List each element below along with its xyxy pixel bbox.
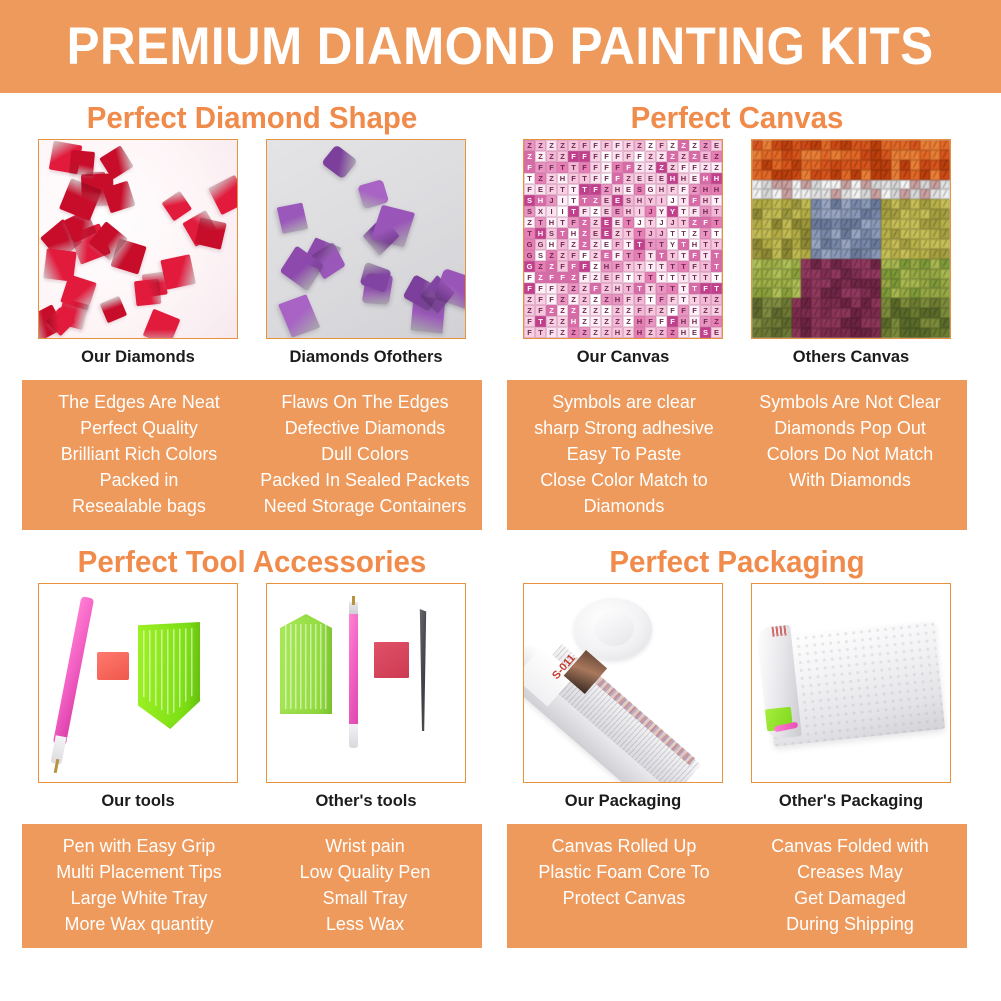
canvas-symbol-cell: ╱ <box>762 199 772 209</box>
pink-pen-icon <box>53 596 94 746</box>
canvas-symbol-cell: ╱ <box>752 160 762 170</box>
canvas-symbol-cell: ╱ <box>930 298 940 308</box>
canvas-symbol-cell: ╱ <box>910 318 920 328</box>
canvas-symbol-cell: F <box>535 294 546 305</box>
canvas-symbol-cell: ╱ <box>811 318 821 328</box>
canvas-symbol-cell: F <box>524 316 535 327</box>
canvas-symbol-cell: ╱ <box>891 209 901 219</box>
canvas-symbol-cell: ╱ <box>752 279 762 289</box>
canvas-symbol-cell: F <box>590 173 601 184</box>
canvas-symbol-cell: ╱ <box>801 189 811 199</box>
canvas-symbol-cell: ╱ <box>841 180 851 190</box>
canvas-symbol-cell: Z <box>579 217 590 228</box>
bubble-mailer-image <box>751 583 951 783</box>
canvas-symbol-cell: ╱ <box>801 328 811 338</box>
canvas-symbol-cell: ╱ <box>861 160 871 170</box>
canvas-symbol-cell: T <box>678 250 689 261</box>
canvas-symbol-cell: ╱ <box>811 170 821 180</box>
canvas-symbol-cell: ╱ <box>940 279 950 289</box>
canvas-symbol-cell: ╱ <box>940 189 950 199</box>
canvas-symbol-cell: F <box>579 151 590 162</box>
canvas-symbol-cell: S <box>546 228 557 239</box>
canvas-symbol-cell: ╱ <box>772 259 782 269</box>
canvas-symbol-cell: T <box>568 184 579 195</box>
canvas-symbol-cell: ╱ <box>930 328 940 338</box>
canvas-symbol-cell: T <box>678 239 689 250</box>
canvas-symbol-cell: ╱ <box>811 308 821 318</box>
image-pair: Our Diamonds Diamonds Ofothers <box>12 139 492 367</box>
canvas-symbol-cell: ╱ <box>762 150 772 160</box>
canvas-symbol-cell: F <box>546 294 557 305</box>
canvas-symbol-cell: ╱ <box>831 170 841 180</box>
canvas-symbol-cell: H <box>634 316 645 327</box>
canvas-symbol-cell: ╱ <box>851 219 861 229</box>
feature-line: Close Color Match to <box>514 467 733 493</box>
canvas-symbol-cell: ╱ <box>792 140 802 150</box>
canvas-symbol-cell: ╱ <box>801 170 811 180</box>
canvas-symbol-cell: ╱ <box>801 199 811 209</box>
canvas-symbol-cell: ╱ <box>910 209 920 219</box>
canvas-symbol-cell: H <box>612 283 623 294</box>
canvas-symbol-cell: ╱ <box>801 229 811 239</box>
canvas-symbol-cell: ╱ <box>821 229 831 239</box>
section-title: Perfect Tool Accessories <box>24 541 480 583</box>
canvas-symbol-cell: ╱ <box>930 189 940 199</box>
canvas-symbol-cell: F <box>634 305 645 316</box>
canvas-symbol-cell: ╱ <box>841 199 851 209</box>
canvas-symbol-cell: ╱ <box>811 180 821 190</box>
canvas-symbol-cell: T <box>557 217 568 228</box>
canvas-symbol-cell: Z <box>568 272 579 283</box>
canvas-symbol-cell: ╱ <box>940 209 950 219</box>
canvas-symbol-cell: ╱ <box>801 308 811 318</box>
canvas-symbol-cell: ╱ <box>861 239 871 249</box>
canvas-symbol-cell: ╱ <box>851 259 861 269</box>
canvas-symbol-cell: F <box>546 272 557 283</box>
canvas-symbol-cell: T <box>711 250 722 261</box>
feature-box: The Edges Are NeatPerfect QualityBrillia… <box>22 380 482 530</box>
canvas-symbol-cell: ╱ <box>811 140 821 150</box>
canvas-symbol-cell: ╱ <box>772 298 782 308</box>
canvas-symbol-cell: Z <box>557 250 568 261</box>
canvas-symbol-cell: H <box>612 327 623 338</box>
canvas-symbol-cell: ╱ <box>861 219 871 229</box>
canvas-symbol-cell: I <box>634 206 645 217</box>
canvas-symbol-cell: ╱ <box>891 328 901 338</box>
canvas-symbol-cell: T <box>667 250 678 261</box>
canvas-symbol-cell: ╱ <box>821 150 831 160</box>
canvas-symbol-cell: F <box>623 151 634 162</box>
canvas-symbol-cell: ╱ <box>851 229 861 239</box>
feature-line: Wrist pain <box>255 833 474 859</box>
canvas-symbol-cell: ╱ <box>930 279 940 289</box>
canvas-symbol-cell: J <box>645 228 656 239</box>
canvas-symbol-cell: ╱ <box>930 180 940 190</box>
canvas-symbol-cell: T <box>623 283 634 294</box>
canvas-symbol-cell: ╱ <box>920 298 930 308</box>
canvas-symbol-cell: ╱ <box>752 239 762 249</box>
canvas-symbol-cell: T <box>623 239 634 250</box>
canvas-symbol-cell: ╱ <box>841 140 851 150</box>
canvas-symbol-cell: ╱ <box>762 229 772 239</box>
image-caption: Our Packaging <box>523 792 723 811</box>
canvas-symbol-cell: J <box>656 228 667 239</box>
canvas-symbol-cell: F <box>689 162 700 173</box>
canvas-symbol-cell: T <box>678 217 689 228</box>
canvas-symbol-cell: ╱ <box>900 209 910 219</box>
canvas-symbol-cell: ╱ <box>940 259 950 269</box>
canvas-symbol-cell: G <box>524 250 535 261</box>
canvas-symbol-cell: T <box>557 228 568 239</box>
canvas-symbol-cell: ╱ <box>920 140 930 150</box>
canvas-symbol-cell: T <box>634 239 645 250</box>
canvas-symbol-cell: ╱ <box>900 150 910 160</box>
tube-packaging-image: S-011 <box>523 583 723 783</box>
canvas-symbol-cell: J <box>667 195 678 206</box>
canvas-symbol-cell: ╱ <box>831 189 841 199</box>
infographic-page: PREMIUM DIAMOND PAINTING KITS Perfect Di… <box>0 0 1001 1001</box>
canvas-symbol-cell: T <box>656 250 667 261</box>
canvas-symbol-cell: ╱ <box>930 219 940 229</box>
canvas-symbol-cell: ╱ <box>762 209 772 219</box>
feature-col-others: Canvas Folded withCreases MayGet Damaged… <box>737 833 963 937</box>
canvas-symbol-cell: Z <box>590 294 601 305</box>
canvas-symbol-cell: H <box>678 316 689 327</box>
canvas-symbol-cell: ╱ <box>851 140 861 150</box>
canvas-symbol-cell: ╱ <box>900 239 910 249</box>
canvas-symbol-cell: ╱ <box>782 308 792 318</box>
canvas-symbol-cell: ╱ <box>801 140 811 150</box>
canvas-symbol-cell: E <box>634 173 645 184</box>
canvas-symbol-cell: ╱ <box>910 229 920 239</box>
canvas-symbol-cell: Z <box>546 140 557 151</box>
canvas-symbol-cell: F <box>689 250 700 261</box>
canvas-symbol-cell: ╱ <box>841 318 851 328</box>
canvas-symbol-cell: Z <box>557 294 568 305</box>
canvas-symbol-cell: Z <box>711 162 722 173</box>
canvas-symbol-cell: T <box>689 294 700 305</box>
canvas-symbol-cell: F <box>524 162 535 173</box>
canvas-symbol-cell: ╱ <box>772 328 782 338</box>
canvas-symbol-cell: ╱ <box>752 298 762 308</box>
canvas-symbol-cell: ╱ <box>801 269 811 279</box>
canvas-symbol-cell: Z <box>535 140 546 151</box>
canvas-symbol-cell: ╱ <box>782 269 792 279</box>
canvas-symbol-cell: T <box>711 228 722 239</box>
canvas-symbol-cell: ╱ <box>821 189 831 199</box>
canvas-symbol-cell: ╱ <box>821 219 831 229</box>
canvas-symbol-cell: T <box>634 272 645 283</box>
canvas-symbol-cell: Z <box>645 162 656 173</box>
canvas-symbol-cell: ╱ <box>891 150 901 160</box>
canvas-symbol-cell: ╱ <box>891 140 901 150</box>
canvas-symbol-cell: ╱ <box>752 288 762 298</box>
canvas-symbol-cell: Y <box>645 195 656 206</box>
canvas-symbol-cell: T <box>700 228 711 239</box>
canvas-symbol-cell: ╱ <box>772 219 782 229</box>
canvas-symbol-cell: ╱ <box>851 180 861 190</box>
canvas-symbol-cell: ╱ <box>762 259 772 269</box>
feature-col-others: Symbols Are Not ClearDiamonds Pop OutCol… <box>737 389 963 519</box>
canvas-symbol-cell: ╱ <box>930 239 940 249</box>
canvas-symbol-cell: T <box>656 283 667 294</box>
canvas-symbol-cell: ╱ <box>920 318 930 328</box>
canvas-symbol-cell: F <box>656 316 667 327</box>
canvas-symbol-cell: T <box>678 272 689 283</box>
canvas-symbol-cell: ╱ <box>801 259 811 269</box>
canvas-symbol-cell: ╱ <box>920 219 930 229</box>
canvas-symbol-cell: Z <box>689 217 700 228</box>
canvas-symbol-cell: ╱ <box>881 199 891 209</box>
canvas-symbol-cell: ╱ <box>851 269 861 279</box>
canvas-symbol-cell: G <box>524 261 535 272</box>
canvas-symbol-cell: E <box>645 173 656 184</box>
page-title: PREMIUM DIAMOND PAINTING KITS <box>67 16 934 77</box>
canvas-symbol-cell: H <box>601 261 612 272</box>
feature-line: Canvas Rolled Up <box>514 833 733 859</box>
canvas-symbol-cell: Z <box>546 316 557 327</box>
canvas-symbol-cell: I <box>546 206 557 217</box>
canvas-symbol-cell: Z <box>689 184 700 195</box>
canvas-symbol-cell: ╱ <box>782 239 792 249</box>
canvas-symbol-cell: ╱ <box>881 189 891 199</box>
canvas-symbol-cell: ╱ <box>792 219 802 229</box>
canvas-symbol-cell: F <box>612 261 623 272</box>
canvas-symbol-cell: ╱ <box>762 189 772 199</box>
canvas-symbol-cell: E <box>535 184 546 195</box>
canvas-symbol-cell: ╱ <box>891 279 901 289</box>
image-caption: Diamonds Ofothers <box>266 348 466 367</box>
canvas-symbol-cell: F <box>612 250 623 261</box>
canvas-symbol-cell: J <box>634 217 645 228</box>
canvas-symbol-cell: E <box>689 173 700 184</box>
canvas-symbol-cell: ╱ <box>940 199 950 209</box>
canvas-symbol-cell: F <box>546 283 557 294</box>
canvas-symbol-cell: Z <box>579 239 590 250</box>
canvas-symbol-cell: H <box>634 327 645 338</box>
canvas-symbol-cell: ╱ <box>782 249 792 259</box>
canvas-symbol-cell: E <box>700 151 711 162</box>
canvas-symbol-cell: T <box>700 250 711 261</box>
canvas-symbol-cell: ╱ <box>881 259 891 269</box>
canvas-symbol-cell: ╱ <box>910 199 920 209</box>
canvas-symbol-cell: ╱ <box>910 180 920 190</box>
canvas-symbol-cell: ╱ <box>910 160 920 170</box>
wax-square-icon <box>374 642 409 678</box>
other-tools-image <box>266 583 466 783</box>
canvas-symbol-cell: ╱ <box>940 150 950 160</box>
canvas-symbol-cell: E <box>601 250 612 261</box>
canvas-symbol-cell: F <box>568 173 579 184</box>
canvas-symbol-cell: ╱ <box>910 328 920 338</box>
canvas-symbol-cell: ╱ <box>841 328 851 338</box>
canvas-symbol-cell: ╱ <box>752 150 762 160</box>
canvas-symbol-cell: ╱ <box>881 140 891 150</box>
canvas-symbol-cell: Z <box>612 228 623 239</box>
canvas-symbol-cell: Z <box>656 162 667 173</box>
section-title: Perfect Canvas <box>509 97 965 139</box>
canvas-symbol-cell: F <box>590 151 601 162</box>
canvas-symbol-cell: ╱ <box>851 328 861 338</box>
canvas-symbol-cell: ╱ <box>891 180 901 190</box>
canvas-symbol-cell: ╱ <box>861 288 871 298</box>
canvas-symbol-cell: ╱ <box>821 249 831 259</box>
canvas-symbol-cell: ╱ <box>910 219 920 229</box>
canvas-symbol-cell: Z <box>579 316 590 327</box>
feature-line: During Shipping <box>740 911 959 937</box>
canvas-symbol-cell: E <box>601 228 612 239</box>
canvas-symbol-cell: ╱ <box>910 189 920 199</box>
canvas-symbol-cell: ╱ <box>772 318 782 328</box>
feature-line: Perfect Quality <box>29 415 248 441</box>
canvas-symbol-cell: ╱ <box>772 209 782 219</box>
canvas-symbol-cell: ╱ <box>940 318 950 328</box>
section-canvas: Perfect Canvas ZZZZZFFFFFZZFZZZZEZZZZFFF… <box>497 97 977 530</box>
canvas-symbol-cell: ╱ <box>910 279 920 289</box>
canvas-symbol-cell: T <box>700 272 711 283</box>
canvas-symbol-cell: ╱ <box>821 279 831 289</box>
canvas-symbol-cell: H <box>711 173 722 184</box>
feature-line: sharp Strong adhesive <box>514 415 733 441</box>
canvas-symbol-cell: ╱ <box>920 150 930 160</box>
canvas-symbol-cell: ╱ <box>782 259 792 269</box>
feature-col-ours: Pen with Easy GripMulti Placement TipsLa… <box>26 833 252 937</box>
canvas-symbol-cell: S <box>524 206 535 217</box>
canvas-symbol-cell: ╱ <box>871 308 881 318</box>
canvas-symbol-cell: ╱ <box>821 170 831 180</box>
feature-line: Large White Tray <box>29 885 248 911</box>
canvas-symbol-cell: ╱ <box>900 140 910 150</box>
canvas-symbol-cell: ╱ <box>782 219 792 229</box>
canvas-symbol-cell: ╱ <box>762 219 772 229</box>
canvas-symbol-cell: ╱ <box>811 199 821 209</box>
canvas-symbol-cell: F <box>623 294 634 305</box>
canvas-symbol-cell: ╱ <box>891 219 901 229</box>
canvas-symbol-cell: F <box>535 283 546 294</box>
canvas-symbol-cell: Z <box>711 305 722 316</box>
canvas-symbol-cell: ╱ <box>871 318 881 328</box>
canvas-symbol-cell: E <box>601 195 612 206</box>
canvas-symbol-cell: Z <box>535 151 546 162</box>
canvas-symbol-cell: ╱ <box>871 150 881 160</box>
canvas-symbol-cell: ╱ <box>841 160 851 170</box>
canvas-symbol-cell: F <box>601 151 612 162</box>
canvas-symbol-cell: ╱ <box>841 209 851 219</box>
canvas-symbol-cell: ╱ <box>871 229 881 239</box>
canvas-symbol-cell: ╱ <box>881 279 891 289</box>
canvas-symbol-cell: ╱ <box>900 199 910 209</box>
canvas-symbol-cell: F <box>678 305 689 316</box>
canvas-symbol-cell: H <box>568 228 579 239</box>
canvas-symbol-cell: F <box>689 305 700 316</box>
canvas-symbol-cell: F <box>579 261 590 272</box>
canvas-symbol-cell: ╱ <box>801 288 811 298</box>
canvas-symbol-cell: ╱ <box>930 199 940 209</box>
canvas-symbol-cell: Z <box>656 305 667 316</box>
canvas-symbol-cell: Y <box>667 206 678 217</box>
canvas-symbol-cell: ╱ <box>841 249 851 259</box>
canvas-symbol-cell: F <box>656 140 667 151</box>
canvas-symbol-cell: ╱ <box>851 199 861 209</box>
canvas-symbol-cell: ╱ <box>762 249 772 259</box>
canvas-symbol-cell: F <box>590 283 601 294</box>
pink-canvas-image: ZZZZZFFFFFZZFZZZZEZZZZFFFFFFFZZZZZEZFFFT… <box>523 139 723 339</box>
canvas-symbol-cell: ╱ <box>930 249 940 259</box>
canvas-symbol-cell: E <box>623 184 634 195</box>
canvas-symbol-cell: ╱ <box>782 279 792 289</box>
canvas-symbol-cell: ╱ <box>831 209 841 219</box>
canvas-symbol-cell: Z <box>524 305 535 316</box>
canvas-symbol-cell: ╱ <box>762 288 772 298</box>
canvas-symbol-cell: ╱ <box>881 249 891 259</box>
canvas-symbol-cell: T <box>700 239 711 250</box>
canvas-symbol-cell: F <box>645 305 656 316</box>
image-cell-ours: S-011 Our Packaging <box>523 583 723 811</box>
canvas-symbol-cell: ╱ <box>752 328 762 338</box>
canvas-symbol-cell: F <box>612 151 623 162</box>
canvas-symbol-cell: ╱ <box>891 170 901 180</box>
mailer-tab-icon <box>772 625 789 637</box>
section-packaging: Perfect Packaging S-011 <box>497 541 977 948</box>
canvas-symbol-cell: F <box>557 239 568 250</box>
canvas-symbol-cell: ╱ <box>891 249 901 259</box>
canvas-symbol-cell: ╱ <box>772 140 782 150</box>
canvas-symbol-cell: J <box>546 195 557 206</box>
canvas-symbol-cell: ╱ <box>762 269 772 279</box>
canvas-symbol-cell: ╱ <box>900 259 910 269</box>
canvas-symbol-cell: ╱ <box>891 199 901 209</box>
canvas-symbol-cell: F <box>612 173 623 184</box>
canvas-symbol-cell: Z <box>678 151 689 162</box>
canvas-symbol-cell: T <box>634 250 645 261</box>
canvas-symbol-cell: Z <box>590 272 601 283</box>
feature-col-ours: The Edges Are NeatPerfect QualityBrillia… <box>26 389 252 519</box>
canvas-symbol-cell: ╱ <box>841 170 851 180</box>
canvas-symbol-cell: T <box>711 272 722 283</box>
canvas-symbol-cell: H <box>546 239 557 250</box>
feature-col-ours: Canvas Rolled UpPlastic Foam Core ToProt… <box>511 833 737 937</box>
canvas-symbol-cell: E <box>590 228 601 239</box>
canvas-symbol-cell: ╱ <box>762 180 772 190</box>
canvas-symbol-cell: ╱ <box>861 318 871 328</box>
canvas-symbol-cell: F <box>579 272 590 283</box>
canvas-symbol-cell: ╱ <box>920 239 930 249</box>
canvas-symbol-cell: ╱ <box>811 298 821 308</box>
canvas-symbol-cell: ╱ <box>940 328 950 338</box>
canvas-symbol-cell: H <box>678 173 689 184</box>
canvas-symbol-cell: Z <box>590 195 601 206</box>
canvas-symbol-cell: ╱ <box>930 160 940 170</box>
canvas-symbol-cell: H <box>656 184 667 195</box>
canvas-symbol-cell: F <box>568 151 579 162</box>
canvas-symbol-cell: T <box>711 261 722 272</box>
canvas-symbol-cell: ╱ <box>881 219 891 229</box>
canvas-symbol-cell: Z <box>623 173 634 184</box>
canvas-symbol-cell: ╱ <box>881 170 891 180</box>
canvas-symbol-cell: ╱ <box>871 209 881 219</box>
feature-line: Colors Do Not Match <box>740 441 959 467</box>
canvas-symbol-cell: ╱ <box>891 308 901 318</box>
feature-line: Dull Colors <box>255 441 474 467</box>
image-pair: ZZZZZFFFFFZZFZZZZEZZZZFFFFFFFZZZZZEZFFFT… <box>497 139 977 367</box>
canvas-symbol-cell: F <box>568 250 579 261</box>
canvas-symbol-cell: Z <box>546 151 557 162</box>
canvas-symbol-cell: T <box>678 283 689 294</box>
canvas-symbol-cell: ╱ <box>782 288 792 298</box>
canvas-symbol-cell: ╱ <box>871 160 881 170</box>
canvas-symbol-cell: G <box>524 239 535 250</box>
canvas-symbol-cell: ╱ <box>871 269 881 279</box>
